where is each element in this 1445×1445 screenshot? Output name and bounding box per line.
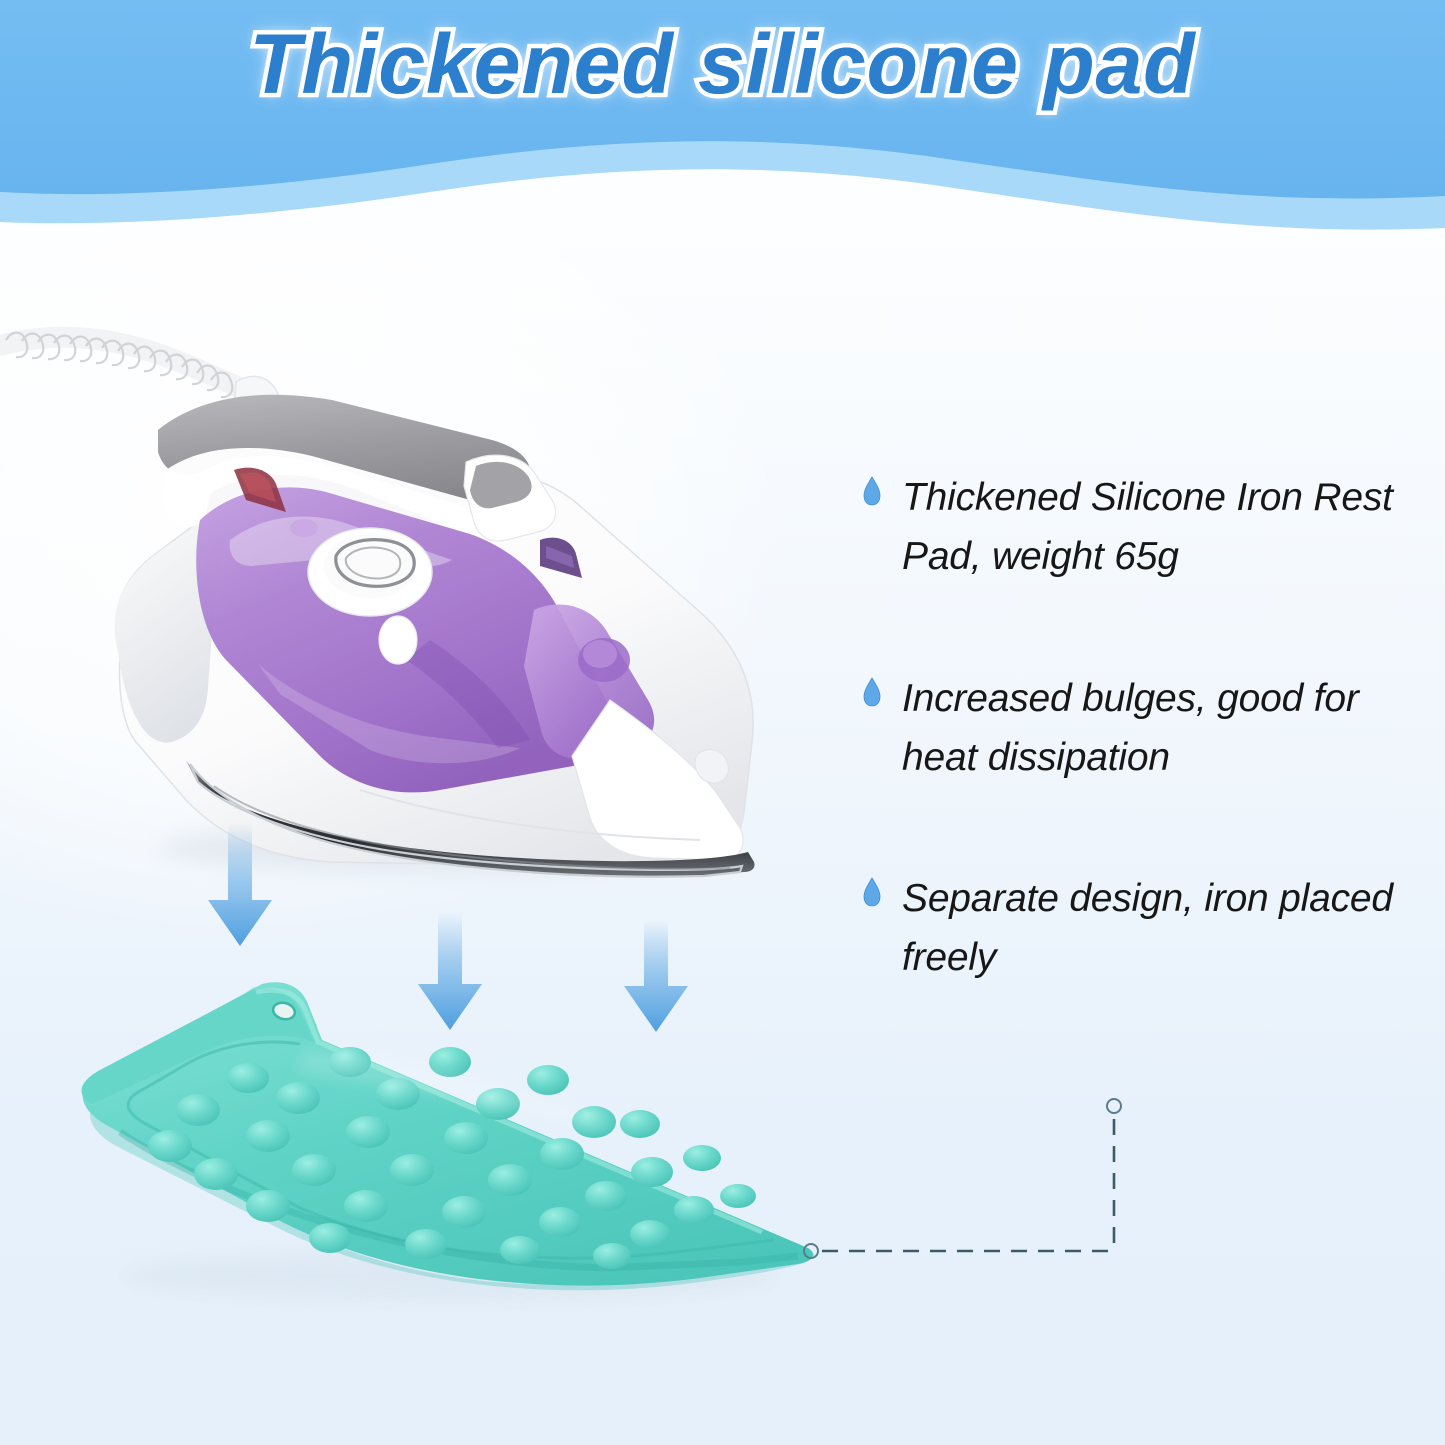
feature-item-2: Increased bulges, good for heat dissipat…	[862, 669, 1422, 788]
infographic-page: Thickened silicone pad Thickened silicon…	[0, 0, 1445, 1445]
water-drop-icon	[862, 476, 882, 506]
water-drop-icon	[862, 877, 882, 907]
water-drop-icon	[862, 677, 882, 707]
header-banner: Thickened silicone pad Thickened silicon…	[0, 0, 1445, 245]
feature-text-3: Separate design, iron placed freely	[902, 869, 1422, 988]
feature-item-3: Separate design, iron placed freely	[862, 869, 1422, 988]
feature-list: Thickened Silicone Iron Rest Pad, weight…	[862, 468, 1422, 988]
feature-text-1: Thickened Silicone Iron Rest Pad, weight…	[902, 468, 1422, 587]
feature-text-2: Increased bulges, good for heat dissipat…	[902, 669, 1422, 788]
page-title: Thickened silicone pad	[0, 18, 1445, 110]
background-highlight	[0, 240, 780, 940]
feature-item-1: Thickened Silicone Iron Rest Pad, weight…	[862, 468, 1422, 587]
